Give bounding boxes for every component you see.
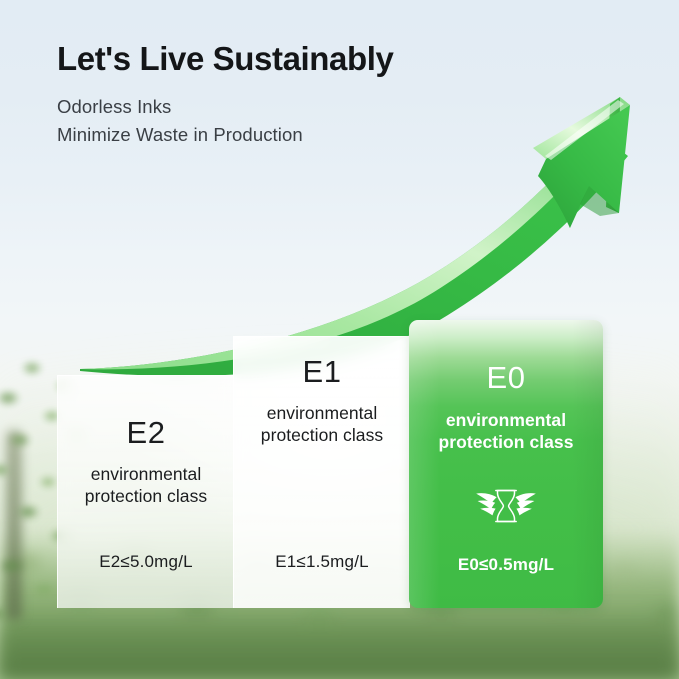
sustainability-infographic: Let's Live Sustainably Odorless Inks Min… [0,0,679,679]
bar-e0-class-line-2: protection class [438,431,573,453]
bar-e0-grade: E0 [487,362,526,393]
bar-e2-class-line-1: environmental [85,463,207,485]
bar-e0-limit: E0≤0.5mg/L [458,555,554,575]
bar-e2-grade: E2 [127,417,166,448]
bar-e1[interactable]: E1 environmental protection class E1≤1.5… [233,336,410,608]
bar-e0-class: environmental protection class [438,409,573,453]
winged-hourglass-icon [473,483,539,529]
class-bars-group: E2 environmental protection class E2≤5.0… [0,0,679,679]
bar-e2[interactable]: E2 environmental protection class E2≤5.0… [57,375,234,608]
bar-e0[interactable]: E0 environmental protection class [409,320,603,608]
bar-e1-class: environmental protection class [261,402,383,446]
bar-e2-class: environmental protection class [85,463,207,507]
bar-e0-class-line-1: environmental [438,409,573,431]
bar-e1-limit: E1≤1.5mg/L [275,552,369,572]
bar-e1-class-line-2: protection class [261,424,383,446]
bar-e2-limit: E2≤5.0mg/L [99,552,193,572]
bar-e2-class-line-2: protection class [85,485,207,507]
bar-e1-class-line-1: environmental [261,402,383,424]
bar-e1-grade: E1 [303,356,342,387]
